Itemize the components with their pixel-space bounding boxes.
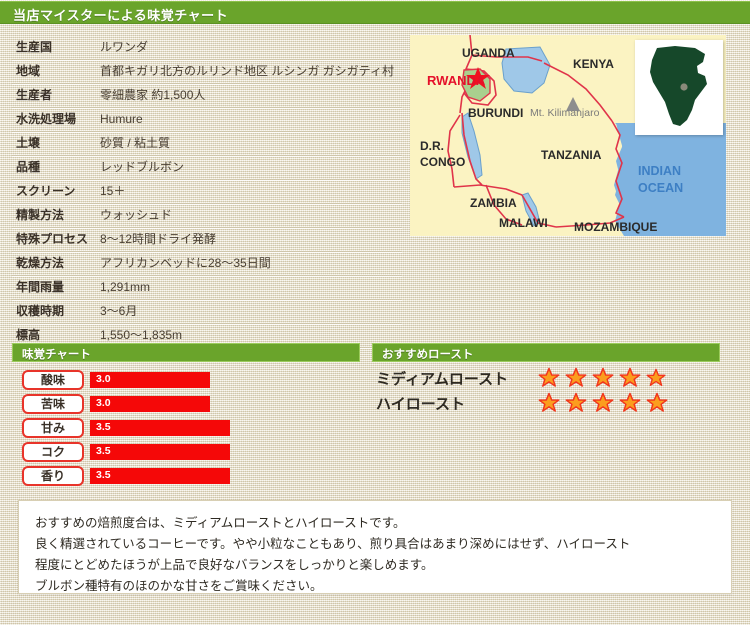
spec-row-key: 年間雨量 (16, 276, 94, 299)
taste-bar: 3.5 (90, 420, 230, 436)
spec-row: 特殊プロセス8〜12時間ドライ発酵 (12, 228, 402, 252)
map-label-tanzania: TANZANIA (541, 148, 602, 162)
description-text: おすすめの焙煎度合は、ミディアムローストとハイローストです。良く精選されているコ… (35, 513, 630, 597)
star-icon (646, 368, 666, 393)
taste-bar-value: 3.5 (96, 421, 111, 433)
taste-row: 香り3.5 (12, 465, 362, 488)
spec-row-value: ウォッシュド (100, 204, 172, 227)
taste-row: コク3.5 (12, 441, 362, 464)
taste-bar-value: 3.0 (96, 373, 111, 385)
map-label-kilimanjaro: Mt. Kilimanjaro (530, 107, 600, 119)
spec-row-key: 精製方法 (16, 204, 94, 227)
spec-row: 精製方法ウォッシュド (12, 204, 402, 228)
spec-row-value: 零細農家 約1,500人 (100, 84, 205, 107)
map-label-indian-ocean-line1: INDIAN (638, 164, 681, 178)
taste-bar-value: 3.0 (96, 397, 111, 409)
spec-row-value: レッドブルボン (100, 156, 184, 179)
page-title: 当店マイスターによる味覚チャート (13, 5, 228, 24)
spec-row-value: 8〜12時間ドライ発酵 (100, 228, 216, 251)
taste-bar-value: 3.5 (96, 469, 111, 481)
roast-star-rating (538, 392, 673, 419)
description-line: 良く精選されているコーヒーです。やや小粒なこともあり、煎り具合はあまり深めにはせ… (35, 534, 630, 555)
spec-row: 地域首都キガリ北方のルリンド地区 ルシンガ ガシガティ村 (12, 60, 402, 84)
star-icon (592, 392, 614, 419)
origin-spec-table: 生産国ルワンダ地域首都キガリ北方のルリンド地区 ルシンガ ガシガティ村生産者零細… (12, 36, 402, 348)
spec-row: 年間雨量1,291mm (12, 276, 402, 300)
roast-label: ミディアムロースト (376, 368, 508, 389)
taste-bar: 3.0 (90, 372, 210, 388)
map-label-malawi: MALAWI (499, 216, 548, 230)
spec-row: 水洗処理場Humure (12, 108, 402, 132)
taste-bar-value: 3.5 (96, 445, 111, 457)
spec-row-key: 特殊プロセス (16, 228, 94, 251)
taste-row: 酸味3.0 (12, 369, 362, 392)
map-label-kenya: KENYA (573, 57, 614, 71)
spec-row: スクリーン15＋ (12, 180, 402, 204)
spec-row-value: 砂質 / 粘土質 (100, 132, 170, 155)
taste-chart-section-header: 味覚チャート (12, 343, 360, 362)
map-label-burundi: BURUNDI (468, 106, 523, 120)
star-icon (619, 392, 641, 419)
spec-row-key: 乾燥方法 (16, 252, 94, 275)
description-box: おすすめの焙煎度合は、ミディアムローストとハイローストです。良く精選されているコ… (18, 500, 732, 594)
spec-row-value: Humure (100, 108, 143, 131)
spec-row-key: 生産者 (16, 84, 94, 107)
roast-list: ミディアムローストハイロースト (372, 367, 722, 417)
spec-row-key: スクリーン (16, 180, 94, 203)
taste-label-chip: 苦味 (22, 394, 84, 414)
rwanda-locator-dot (680, 83, 687, 90)
taste-chart-heading: 味覚チャート (22, 346, 91, 362)
star-icon (646, 392, 668, 419)
taste-bar: 3.5 (90, 468, 230, 484)
spec-row-key: 水洗処理場 (16, 108, 94, 131)
roast-star-rating (538, 367, 671, 394)
star-icon (619, 367, 641, 394)
star-icon (538, 367, 560, 394)
spec-row: 品種レッドブルボン (12, 156, 402, 180)
africa-continent-shape (650, 46, 707, 126)
spec-row-value: アフリカンベッドに28〜35日間 (100, 252, 271, 275)
spec-row-value: 15＋ (100, 180, 125, 203)
taste-row: 甘み3.5 (12, 417, 362, 440)
description-line: ブルボン種特有のほのかな甘さをご賞味ください。 (35, 576, 630, 597)
description-line: 程度にとどめたほうが上品で良好なバランスをしっかりと楽しめます。 (35, 555, 630, 576)
roast-row: ミディアムロースト (372, 367, 722, 392)
taste-chart-list: 酸味3.0苦味3.0甘み3.5コク3.5香り3.5 (12, 369, 362, 489)
map-label-indian-ocean-line2: OCEAN (638, 181, 683, 195)
taste-row: 苦味3.0 (12, 393, 362, 416)
map-label-zambia: ZAMBIA (470, 196, 517, 210)
east-africa-map: UGANDA KENYA RWANDA BURUNDI Mt. Kilimanj… (410, 35, 726, 236)
spec-row-value: ルワンダ (100, 36, 148, 59)
africa-inset-svg (635, 40, 723, 135)
spec-row-value: 首都キガリ北方のルリンド地区 ルシンガ ガシガティ村 (100, 60, 394, 83)
taste-label-chip: 甘み (22, 418, 84, 438)
map-label-rwanda: RWANDA (427, 73, 486, 88)
taste-label-chip: 香り (22, 466, 84, 486)
roast-section-header: おすすめロースト (372, 343, 720, 362)
spec-row: 生産者零細農家 約1,500人 (12, 84, 402, 108)
star-icon (592, 367, 614, 394)
spec-row-value: 3〜6月 (100, 300, 137, 323)
spec-row-key: 生産国 (16, 36, 94, 59)
spec-row: 生産国ルワンダ (12, 36, 402, 60)
map-label-uganda: UGANDA (462, 46, 515, 60)
spec-row-value: 1,291mm (100, 276, 150, 299)
roast-label: ハイロースト (376, 393, 465, 414)
star-icon (565, 367, 587, 394)
spec-row-key: 収穫時期 (16, 300, 94, 323)
map-label-drcongo-line1: D.R. (420, 139, 444, 153)
spec-row: 土壌砂質 / 粘土質 (12, 132, 402, 156)
star-icon (538, 392, 560, 419)
page-title-bar: 当店マイスターによる味覚チャート (0, 1, 750, 24)
taste-label-chip: コク (22, 442, 84, 462)
spec-row-key: 土壌 (16, 132, 94, 155)
taste-bar: 3.5 (90, 444, 230, 460)
spec-row: 乾燥方法アフリカンベッドに28〜35日間 (12, 252, 402, 276)
roast-row: ハイロースト (372, 392, 722, 417)
spec-row-key: 品種 (16, 156, 94, 179)
description-line: おすすめの焙煎度合は、ミディアムローストとハイローストです。 (35, 513, 630, 534)
spec-row: 収穫時期3〜6月 (12, 300, 402, 324)
roast-heading: おすすめロースト (382, 346, 473, 362)
africa-inset-box (635, 40, 723, 135)
star-icon (565, 392, 587, 419)
map-label-drcongo-line2: CONGO (420, 155, 465, 169)
spec-row-key: 地域 (16, 60, 94, 83)
map-label-mozambique: MOZAMBIQUE (574, 220, 657, 234)
taste-label-chip: 酸味 (22, 370, 84, 390)
taste-bar: 3.0 (90, 396, 210, 412)
